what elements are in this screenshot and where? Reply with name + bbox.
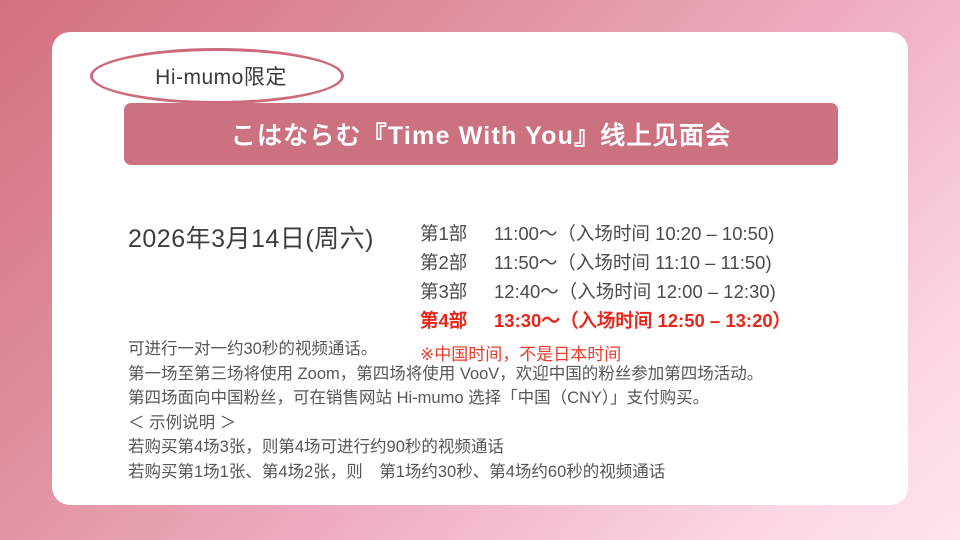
schedule-time-label: 12:40〜（入场时间 12:00 – 12:30)	[494, 277, 890, 306]
schedule-row: 第2部 11:50〜（入场时间 11:10 – 11:50)	[420, 248, 890, 277]
schedule-time-label: 11:50〜（入场时间 11:10 – 11:50)	[494, 248, 890, 277]
title-banner: こはならむ『Time With You』线上见面会	[124, 103, 838, 165]
schedule-row-highlighted: 第4部 13:30〜（入场时间 12:50 – 13:20）	[420, 306, 890, 335]
details-line: 若购买第4场3张，则第4场可进行约90秒的视频通话	[128, 435, 898, 460]
schedule-part-label: 第3部	[420, 277, 494, 306]
schedule-time-label: 13:30〜（入场时间 12:50 – 13:20）	[494, 306, 890, 335]
poster-background: Hi-mumo限定 こはならむ『Time With You』线上见面会 2026…	[0, 0, 960, 540]
event-title: こはならむ『Time With You』线上见面会	[231, 116, 732, 152]
schedule-time-label: 11:00〜（入场时间 10:20 – 10:50)	[494, 219, 890, 248]
limited-badge: Hi-mumo限定	[90, 48, 344, 104]
schedule-part-label: 第4部	[420, 306, 494, 335]
details-line: ＜ 示例说明 ＞	[128, 411, 898, 436]
details-line: 若购买第1场1张、第4场2张，则 第1场约30秒、第4场约60秒的视频通话	[128, 460, 898, 485]
details-line: 可进行一对一约30秒的视频通话。	[128, 337, 898, 362]
details-line: 第一场至第三场将使用 Zoom，第四场将使用 VooV，欢迎中国的粉丝参加第四场…	[128, 362, 898, 387]
schedule-row: 第1部 11:00〜（入场时间 10:20 – 10:50)	[420, 219, 890, 248]
schedule-part-label: 第2部	[420, 248, 494, 277]
schedule-row: 第3部 12:40〜（入场时间 12:00 – 12:30)	[420, 277, 890, 306]
content-card: Hi-mumo限定 こはならむ『Time With You』线上见面会 2026…	[52, 32, 908, 505]
event-date: 2026年3月14日(周六)	[128, 219, 374, 255]
schedule-part-label: 第1部	[420, 219, 494, 248]
details-line: 第四场面向中国粉丝，可在销售网站 Hi-mumo 选择「中国（CNY）」支付购买…	[128, 386, 898, 411]
badge-label: Hi-mumo限定	[90, 48, 344, 104]
details-paragraph: 可进行一对一约30秒的视频通话。 第一场至第三场将使用 Zoom，第四场将使用 …	[128, 337, 898, 484]
